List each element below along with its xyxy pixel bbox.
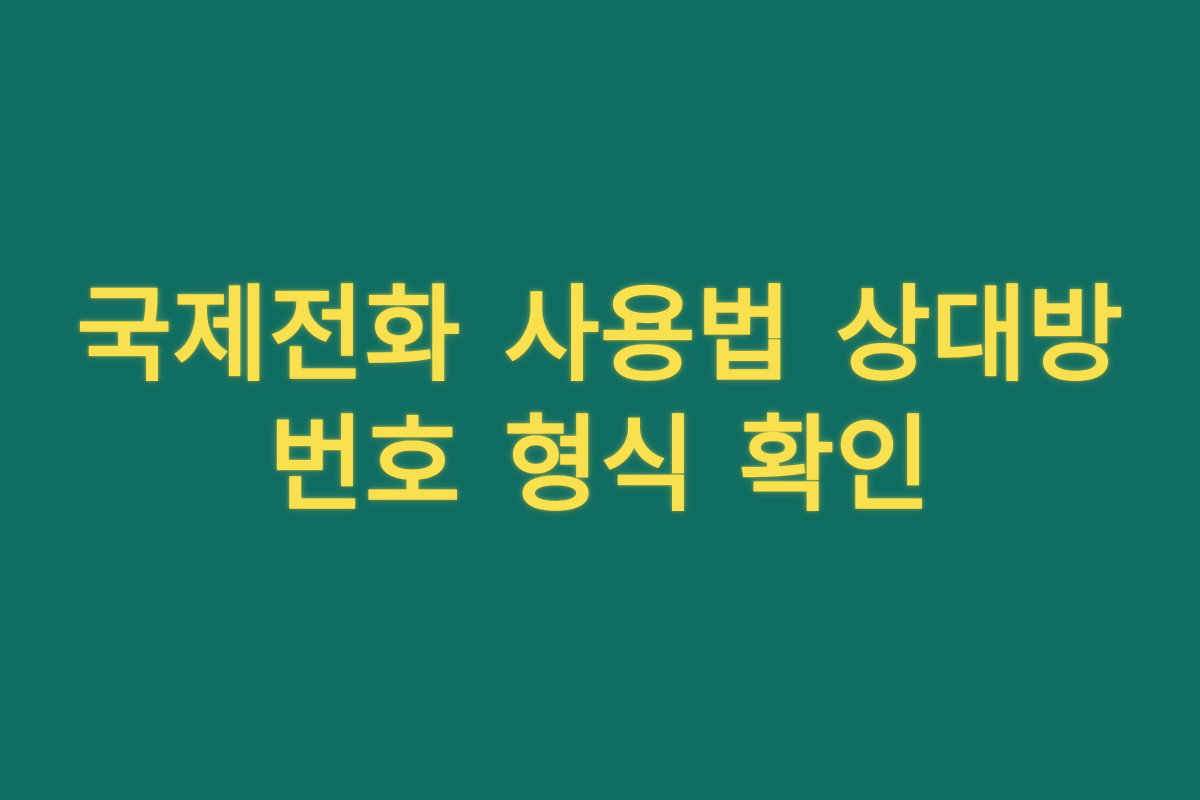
headline-line-1: 국제전화 사용법 상대방 [50,270,1150,400]
page-title: 국제전화 사용법 상대방 번호 형식 확인 [50,270,1150,530]
headline-line-2: 번호 형식 확인 [50,400,1150,530]
banner-canvas: 국제전화 사용법 상대방 번호 형식 확인 [0,0,1200,800]
